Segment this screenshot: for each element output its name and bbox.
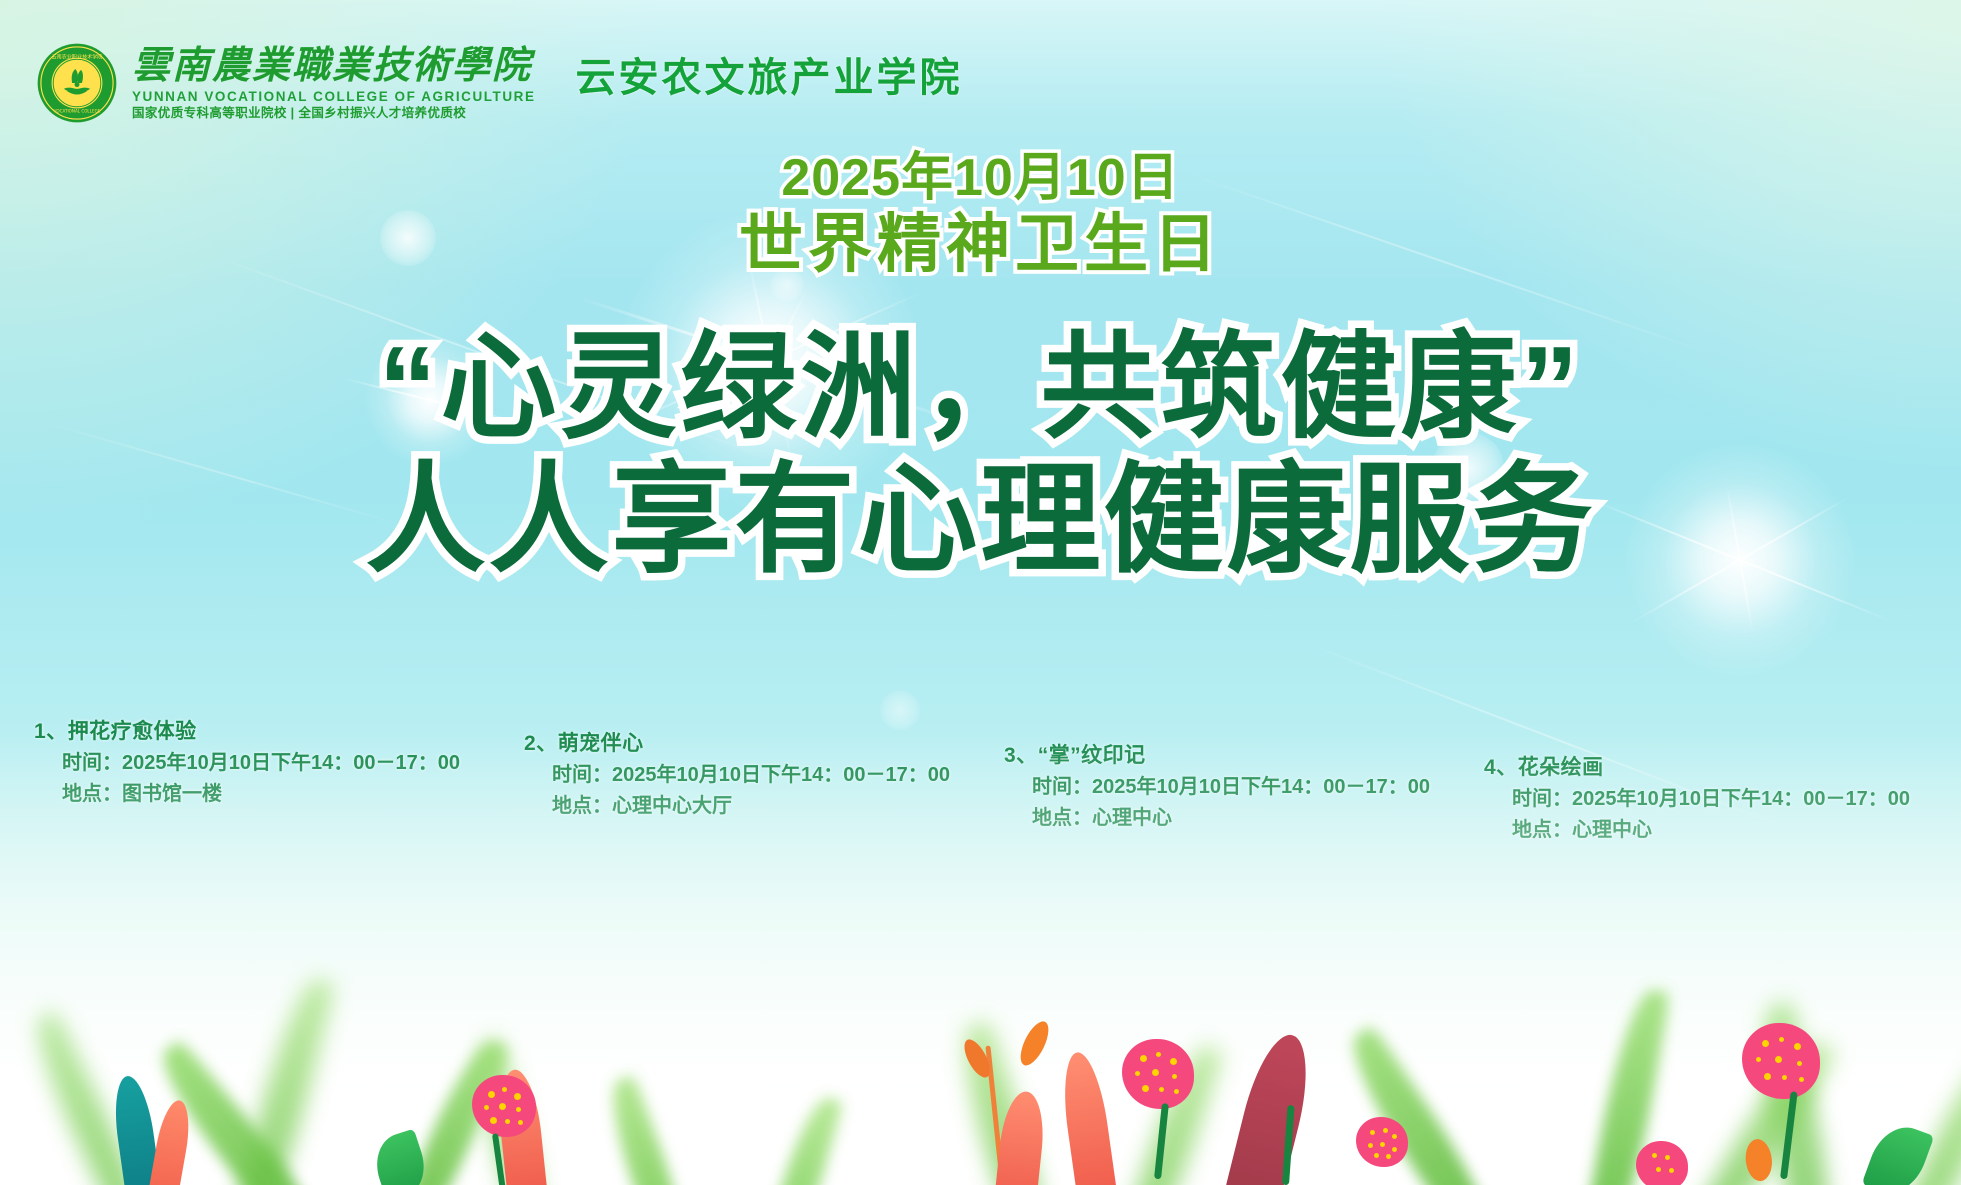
institute-name: 云安农文旅产业学院 — [576, 45, 963, 121]
svg-text:VOCATIONAL COLLEGE: VOCATIONAL COLLEGE — [54, 109, 101, 114]
title-block: 2025年10月10日 世界精神卫生日 “心灵绿洲，共筑健康” 人人享有心理健康… — [0, 152, 1961, 586]
bottom-white-fade — [0, 735, 1961, 1185]
brand-text-block: 雲南農業職業技術學院 YUNNAN VOCATIONAL COLLEGE OF … — [132, 47, 536, 120]
event-date: 2025年10月10日 — [0, 152, 1961, 205]
poster-canvas: 云南农业职业技术学院 VOCATIONAL COLLEGE 雲南農業職業技術學院… — [0, 0, 1961, 1185]
college-branding: 云南农业职业技术学院 VOCATIONAL COLLEGE 雲南農業職業技術學院… — [36, 42, 963, 124]
brand-name-en: YUNNAN VOCATIONAL COLLEGE OF AGRICULTURE — [132, 90, 536, 104]
college-emblem-icon: 云南农业职业技术学院 VOCATIONAL COLLEGE — [36, 42, 118, 124]
brand-name-cn: 雲南農業職業技術學院 — [132, 47, 536, 85]
slogan-line-1: “心灵绿洲，共筑健康” — [0, 325, 1961, 450]
slogan-line-2: 人人享有心理健康服务 — [0, 456, 1961, 586]
brand-subtitle-cn: 国家优质专科高等职业院校 | 全国乡村振兴人才培养优质校 — [132, 107, 536, 120]
svg-text:云南农业职业技术学院: 云南农业职业技术学院 — [52, 53, 103, 60]
event-day-name: 世界精神卫生日 — [0, 209, 1961, 281]
